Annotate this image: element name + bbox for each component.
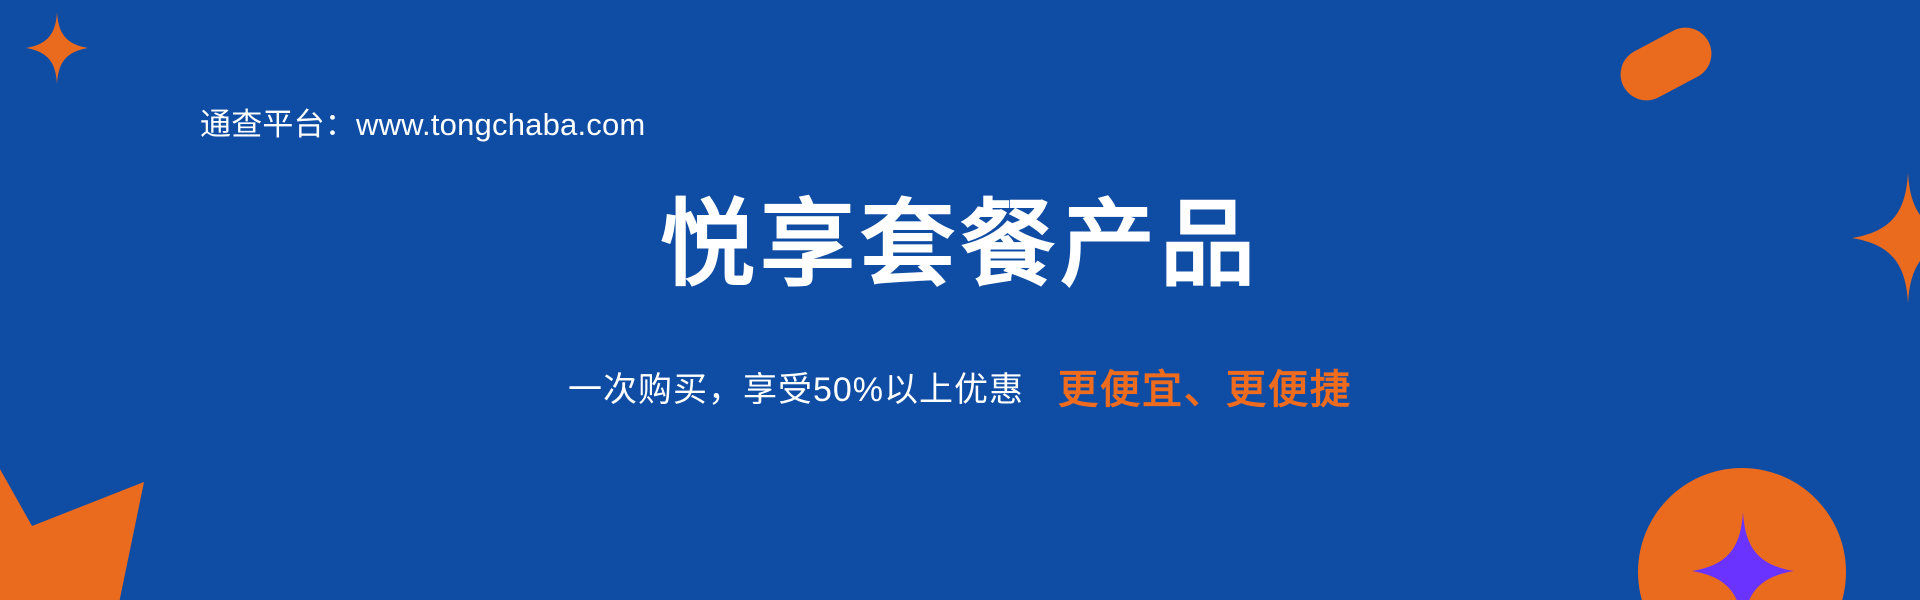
platform-url-line: 通查平台：www.tongchaba.com [200, 106, 645, 143]
banner-background [0, 0, 1920, 600]
promo-banner: 通查平台：www.tongchaba.com 悦享套餐产品 一次购买，享受50%… [0, 0, 1920, 600]
page-title: 悦享套餐产品 [0, 196, 1920, 296]
platform-label: 通查平台： [200, 107, 356, 142]
subtitle-row: 一次购买，享受50%以上优惠更便宜、更便捷 [0, 364, 1920, 416]
subtitle-primary: 一次购买，享受50%以上优惠 [568, 371, 1024, 409]
platform-url: www.tongchaba.com [356, 107, 645, 142]
subtitle-highlight: 更便宜、更便捷 [1058, 368, 1352, 412]
